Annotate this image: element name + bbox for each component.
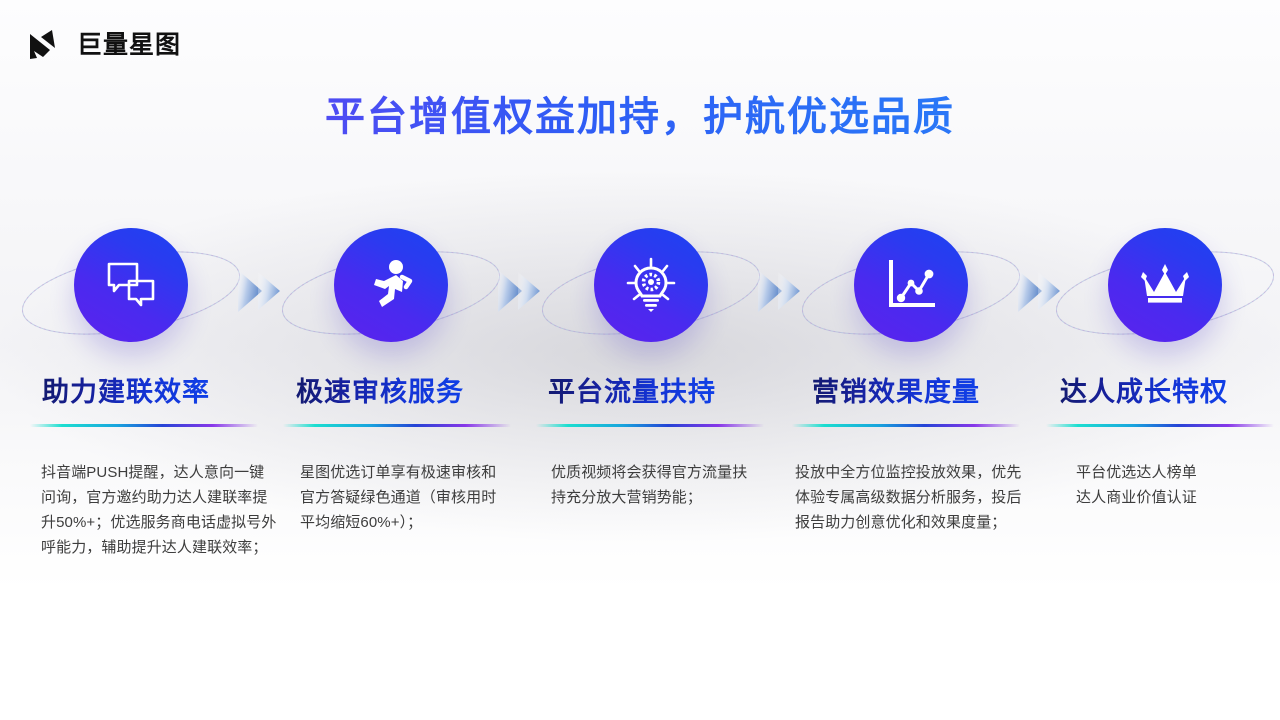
double-chevron-right-icon-2 (496, 268, 552, 314)
step-heading-2: 极速审核服务 (296, 370, 464, 409)
step-body-4: 投放中全方位监控投放效果，优先体验专属高级数据分析服务，投后报告助力创意优化和效… (795, 460, 1030, 535)
double-chevron-right-icon-1 (236, 268, 292, 314)
crown-icon (1138, 262, 1192, 308)
step-divider-1 (30, 424, 258, 427)
step-divider-3 (536, 424, 764, 427)
step-body-5: 平台优选达人榜单 达人商业价值认证 (1076, 460, 1266, 510)
step-divider-4 (792, 424, 1020, 427)
line-chart-icon (885, 259, 937, 311)
lightbulb-gear-icon (623, 257, 679, 313)
step-circle-1 (74, 228, 188, 342)
step-divider-5 (1046, 424, 1274, 427)
running-person-icon (366, 259, 416, 311)
step-divider-2 (283, 424, 511, 427)
step-heading-1: 助力建联效率 (42, 370, 210, 409)
step-heading-5: 达人成长特权 (1060, 370, 1228, 409)
page-title: 平台增值权益加持，护航优选品质 (0, 84, 1280, 142)
double-chevron-right-icon-3 (756, 268, 812, 314)
step-circle-2 (334, 228, 448, 342)
step-node-5[interactable] (1100, 228, 1230, 358)
step-heading-row: 助力建联效率 极速审核服务 平台流量扶持 营销效果度量 达人成长特权 (0, 370, 1280, 416)
step-icon-row (0, 228, 1280, 358)
double-chevron-right-icon-4 (1016, 268, 1072, 314)
step-heading-3: 平台流量扶持 (548, 370, 716, 409)
step-circle-4 (854, 228, 968, 342)
brand-logo: 巨量星图 (28, 28, 181, 62)
star-chart-logo-icon (28, 28, 68, 62)
step-body-2: 星图优选订单享有极速审核和官方答疑绿色通道（审核用时平均缩短60%+）； (300, 460, 500, 535)
step-node-3[interactable] (586, 228, 716, 358)
step-node-2[interactable] (326, 228, 456, 358)
step-body-3: 优质视频将会获得官方流量扶持充分放大营销势能； (551, 460, 751, 510)
step-heading-4: 营销效果度量 (812, 370, 980, 409)
step-body-row: 抖音端PUSH提醒，达人意向一键问询，官方邀约助力达人建联率提升50%+；优选服… (0, 460, 1280, 640)
step-circle-5 (1108, 228, 1222, 342)
step-body-1: 抖音端PUSH提醒，达人意向一键问询，官方邀约助力达人建联率提升50%+；优选服… (41, 460, 279, 560)
step-node-4[interactable] (846, 228, 976, 358)
step-node-1[interactable] (66, 228, 196, 358)
chat-bubbles-icon (105, 261, 157, 309)
brand-name: 巨量星图 (77, 33, 181, 58)
step-circle-3 (594, 228, 708, 342)
step-divider-row (0, 424, 1280, 430)
